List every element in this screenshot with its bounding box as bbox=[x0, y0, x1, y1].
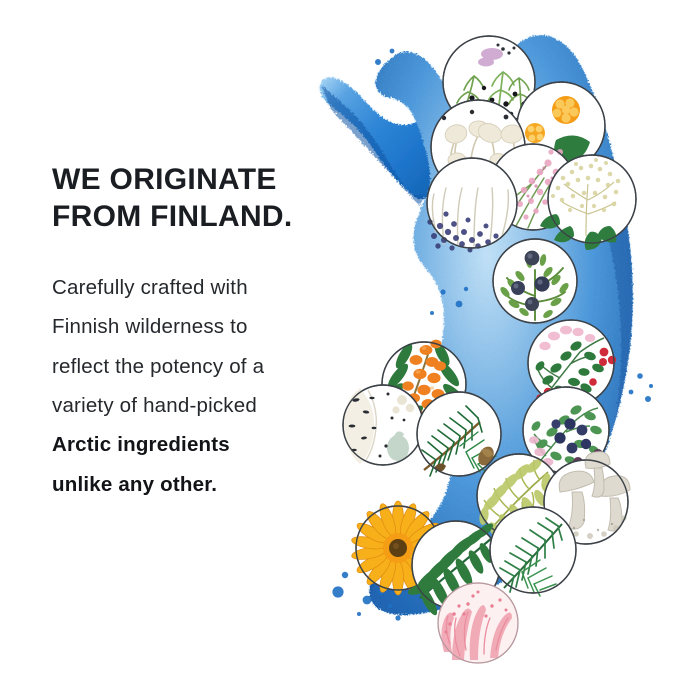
splatter-dot bbox=[378, 589, 383, 594]
poster-canvas: WE ORIGINATE FROM FINLAND. Carefully cra… bbox=[0, 0, 679, 679]
chanterelle-circle bbox=[544, 452, 630, 544]
blueberry-circle bbox=[523, 387, 609, 473]
elderflower-circle bbox=[540, 155, 636, 250]
body-line-5: Arctic ingredients bbox=[52, 425, 362, 464]
body-copy: Carefully crafted with Finnish wildernes… bbox=[52, 236, 362, 504]
rowan-leaf-circle bbox=[477, 454, 561, 544]
body-line-3: reflect the potency of a bbox=[52, 347, 362, 386]
splatter-dot bbox=[649, 384, 653, 388]
headline-line-1: WE ORIGINATE bbox=[52, 162, 362, 199]
ingredient-circle-group bbox=[343, 36, 636, 663]
splatter-dot bbox=[332, 586, 343, 597]
splatter-dot bbox=[456, 301, 463, 308]
body-line-4: variety of hand-picked bbox=[52, 386, 362, 425]
splatter-dot bbox=[390, 49, 395, 54]
marigold-circle bbox=[351, 501, 445, 595]
splatter-dot bbox=[388, 604, 392, 608]
splatter-dot bbox=[363, 596, 372, 605]
juniper-circle bbox=[493, 239, 577, 323]
watercolor-splatter bbox=[332, 49, 653, 621]
willow-herb-circle bbox=[490, 144, 576, 230]
splatter-dot bbox=[375, 59, 381, 65]
page-title: WE ORIGINATE FROM FINLAND. bbox=[52, 162, 362, 236]
spruce-sprig-circle bbox=[490, 507, 576, 596]
body-line-2: Finnish wilderness to bbox=[52, 307, 362, 346]
splatter-dot bbox=[645, 396, 651, 402]
splatter-dot bbox=[637, 373, 643, 379]
lingonberry-circle bbox=[528, 320, 616, 406]
cloudberry-circle bbox=[517, 82, 605, 188]
sea-buckthorn-circle bbox=[378, 340, 468, 426]
fern-frond-circle bbox=[406, 521, 500, 617]
bilberry-shoots-circle bbox=[427, 158, 517, 253]
cotton-grass-circle bbox=[431, 100, 525, 194]
splatter-dot bbox=[440, 289, 445, 294]
pink-algae-circle bbox=[438, 583, 518, 663]
body-line-1: Carefully crafted with bbox=[52, 268, 362, 307]
splatter-dot bbox=[342, 572, 348, 578]
splatter-dot bbox=[629, 390, 634, 395]
splatter-dot bbox=[395, 615, 400, 620]
headline-line-2: FROM FINLAND. bbox=[52, 199, 362, 236]
pine-needle-circle bbox=[417, 392, 501, 476]
splatter-dot bbox=[357, 612, 361, 616]
map-silhouette bbox=[320, 35, 648, 640]
text-column: WE ORIGINATE FROM FINLAND. Carefully cra… bbox=[52, 162, 362, 504]
splatter-dot bbox=[464, 287, 468, 291]
splatter-dot bbox=[430, 311, 434, 315]
crowberry-heather-circle bbox=[443, 36, 535, 128]
body-line-6: unlike any other. bbox=[52, 465, 362, 504]
